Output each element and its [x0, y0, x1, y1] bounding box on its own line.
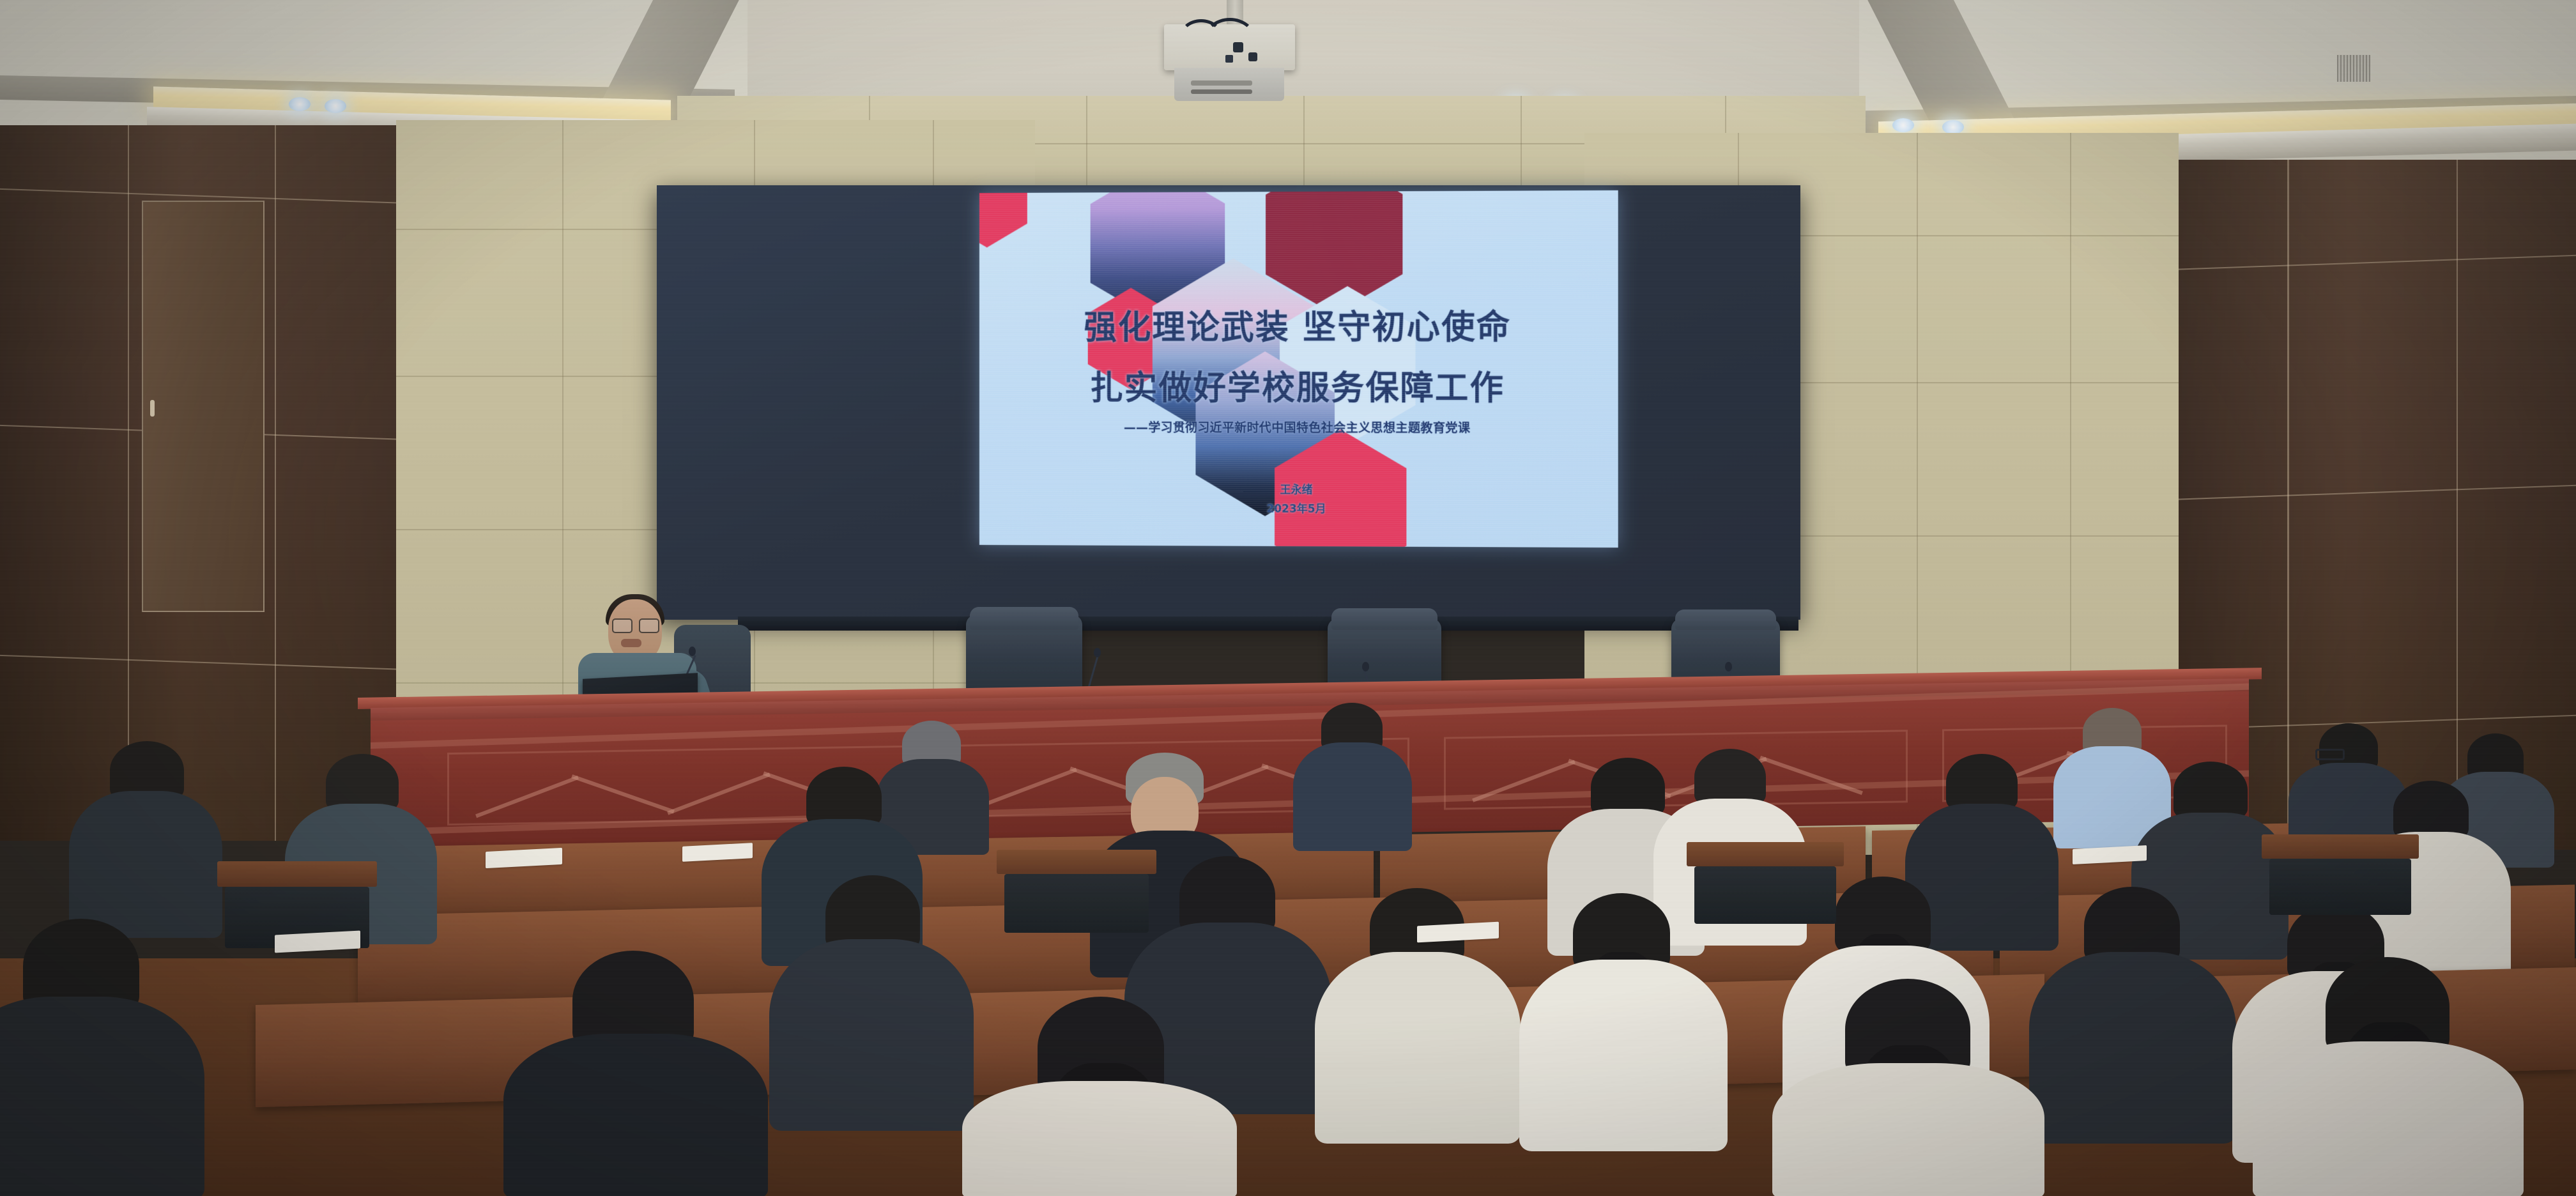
audience-chair-seatback	[1004, 874, 1149, 933]
audience-chair	[217, 861, 377, 887]
stage-chair-headrest	[1331, 608, 1437, 630]
door[interactable]	[142, 201, 264, 612]
led-bottom-bezel	[738, 617, 1798, 631]
microphone-head-icon	[1094, 648, 1101, 657]
hex-decoration-crimson-topleft	[979, 190, 1027, 248]
downlight-icon	[325, 99, 346, 113]
downlight-icon	[1942, 120, 1964, 134]
projector-vent-icon	[2337, 55, 2370, 82]
stage-chair-headrest	[1675, 609, 1776, 630]
lecture-hall-photo: 强化理论武装 坚守初心使命 扎实做好学校服务保障工作 ——学习贯彻习近平新时代中…	[0, 0, 2576, 1196]
presentation-slide: 强化理论武装 坚守初心使命 扎实做好学校服务保障工作 ——学习贯彻习近平新时代中…	[979, 190, 1618, 548]
microphone-head-icon	[1362, 662, 1369, 671]
podium-microphone-head-icon	[689, 647, 696, 656]
slide-title-line-1: 强化理论武装 坚守初心使命	[979, 300, 1618, 348]
stage-panel-box	[1444, 730, 1908, 809]
downlight-icon	[289, 97, 310, 111]
projector-lens-housing	[1174, 68, 1284, 101]
projector-cable	[1204, 18, 1256, 61]
microphone-head-icon	[1725, 662, 1732, 671]
side-wall-wood-left	[0, 125, 409, 841]
door-handle-icon	[150, 400, 155, 417]
glasses-icon	[2315, 749, 2345, 760]
downlight-icon	[1892, 118, 1914, 132]
audience-chair-seatback	[1694, 866, 1836, 924]
slide-date: 2023年5月	[979, 498, 1618, 516]
stage-chair-headrest	[970, 607, 1078, 630]
audience-chair-seatback	[2269, 859, 2411, 915]
slide-title-line-2: 扎实做好学校服务保障工作	[979, 361, 1618, 410]
paper-sheet	[275, 930, 360, 953]
ceiling-center-panel	[747, 0, 1859, 96]
slide-author: 王永绪	[979, 480, 1618, 498]
slide-subtitle: ——学习贯彻习近平新时代中国特色社会主义思想主题教育党课	[979, 418, 1618, 436]
audience-chair	[2262, 834, 2419, 859]
glasses-icon	[612, 618, 658, 631]
audience-chair	[997, 850, 1156, 874]
audience-chair	[1687, 842, 1844, 866]
